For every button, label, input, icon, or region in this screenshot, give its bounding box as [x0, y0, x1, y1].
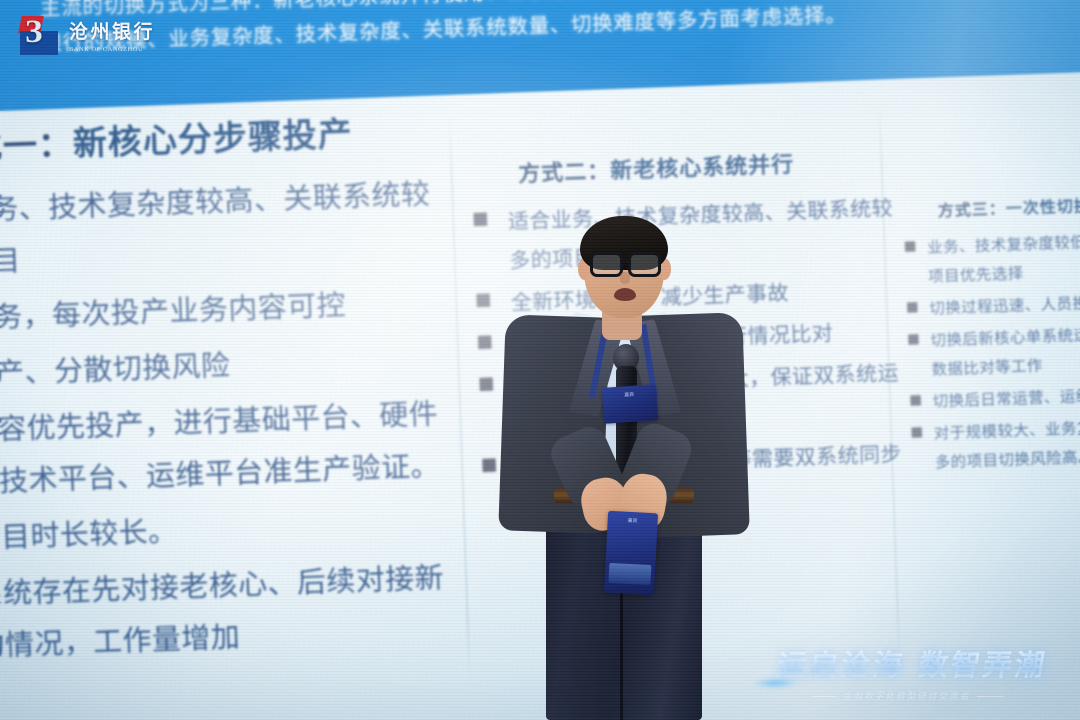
bank-name-cn: 沧州银行 [69, 17, 155, 44]
bank-logo-text: 沧州银行 BANK OF CANGZHOU [69, 17, 155, 53]
badge-label: 嘉宾 [602, 389, 656, 400]
watermark-rule-right [977, 696, 1003, 697]
conference-badge-upper: 嘉宾 [602, 384, 658, 424]
bank-logo-overlay: З 沧州银行 BANK OF CANGZHOU [14, 10, 166, 60]
bank-logo-mark-icon: З [20, 14, 62, 56]
watermark-subtitle: 金融数字化转型研讨交流会 [755, 689, 1059, 702]
logo-glyph: З [25, 16, 42, 49]
watermark-rule-left [811, 696, 837, 697]
event-watermark: 运启沧海数智弄潮 金融数字化转型研讨交流会 [755, 642, 1067, 702]
conference-badge-lower: 嘉宾 [604, 511, 658, 596]
eyeglasses-lens-left-icon [590, 252, 623, 277]
bank-name-en: BANK OF CANGZHOU [69, 46, 155, 53]
presentation-photo: 信创环境的切换方式 主流的切换方式为三种：新老核心系统并行使用、新核心分步骤投产… [0, 0, 1080, 720]
watermark-title: 运启沧海数智弄潮 [758, 642, 1067, 684]
eyeglasses-lens-right-icon [628, 252, 661, 277]
speaker-figure: 嘉宾 嘉宾 [470, 196, 770, 720]
badge-graphic [608, 563, 651, 585]
speaker-mouth [614, 288, 636, 301]
watermark-glow [751, 678, 799, 688]
badge-label-lower: 嘉宾 [608, 516, 658, 526]
watermark-subtitle-text: 金融数字化转型研讨交流会 [843, 691, 972, 701]
eyeglasses-bridge-icon [621, 260, 631, 263]
watermark-title-part2: 数智弄潮 [916, 650, 1049, 682]
speaker-nose [620, 272, 630, 284]
